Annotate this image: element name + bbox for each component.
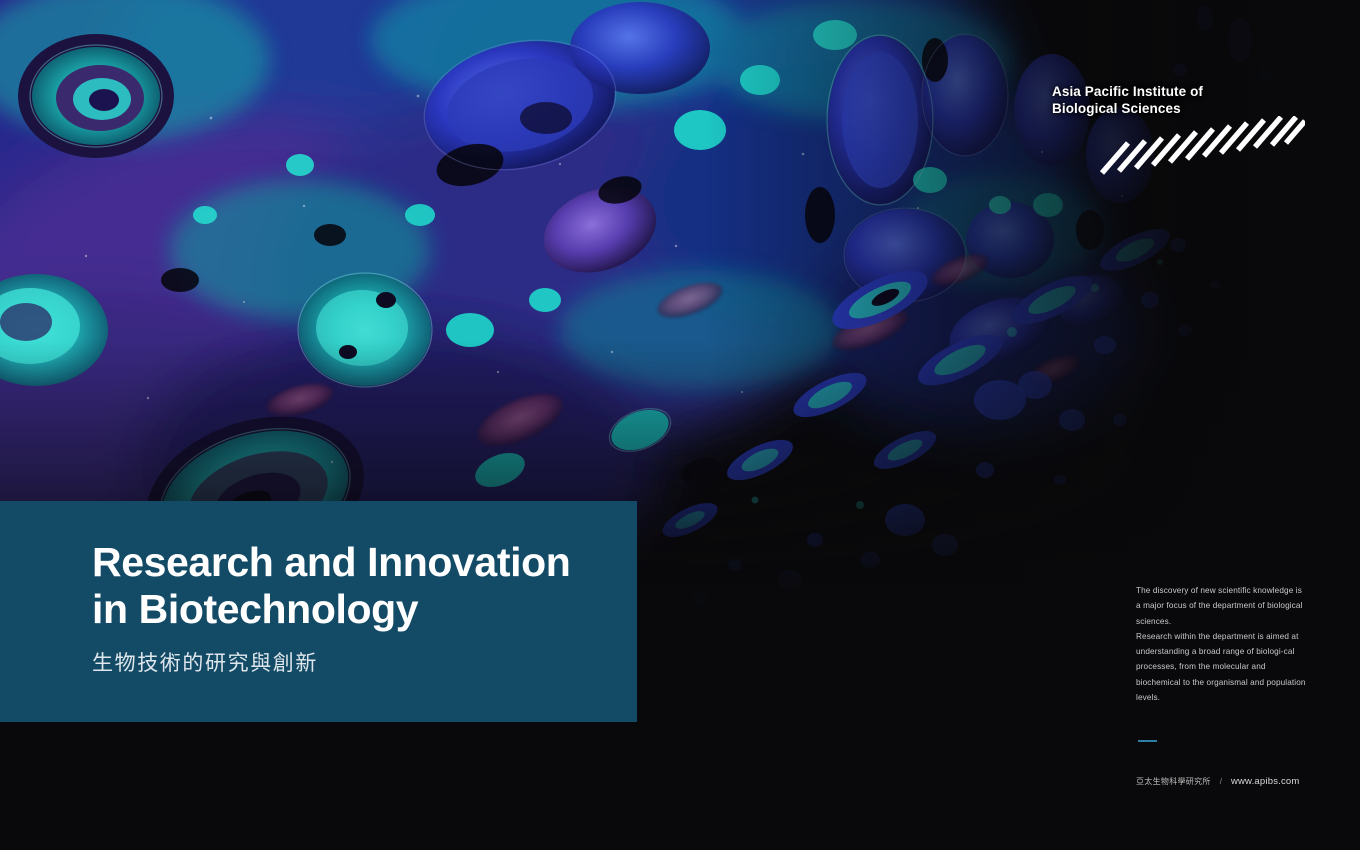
page-title: Research and Innovation in Biotechnology — [92, 539, 637, 632]
body-copy: The discovery of new scientific knowledg… — [1136, 583, 1306, 705]
footer: 亞太生物科學研究所 / www.apibs.com — [1136, 776, 1300, 787]
institute-logo[interactable]: Asia Pacific Institute of Biological Sci… — [1052, 84, 1302, 117]
logo-wordmark: Asia Pacific Institute of Biological Sci… — [1052, 84, 1302, 117]
title-panel-content: Research and Innovation in Biotechnology… — [0, 501, 637, 677]
accent-rule — [1138, 740, 1157, 742]
title-panel: Research and Innovation in Biotechnology… — [0, 501, 637, 722]
footer-organization-cn: 亞太生物科學研究所 — [1136, 776, 1211, 787]
footer-url[interactable]: www.apibs.com — [1231, 776, 1300, 787]
diagonal-stripes-icon — [1100, 116, 1305, 176]
poster-canvas: Asia Pacific Institute of Biological Sci… — [0, 0, 1360, 850]
footer-separator: / — [1220, 777, 1222, 786]
page-subtitle: 生物技術的研究與創新 — [92, 647, 637, 677]
